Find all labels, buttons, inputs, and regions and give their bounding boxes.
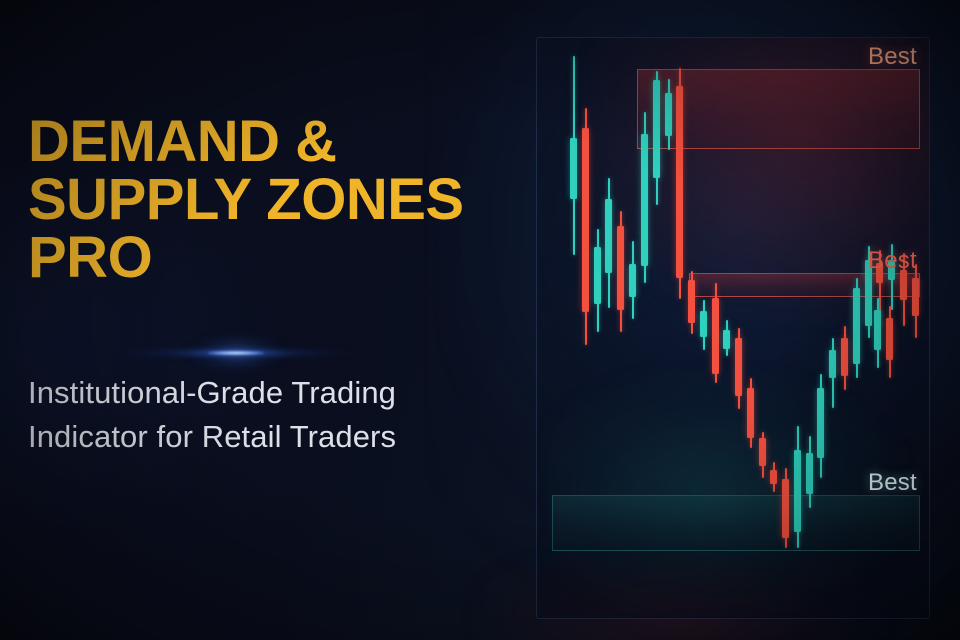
background-vignette (0, 0, 960, 640)
promo-banner: DEMAND & SUPPLY ZONES PRO Institutional-… (0, 0, 960, 640)
